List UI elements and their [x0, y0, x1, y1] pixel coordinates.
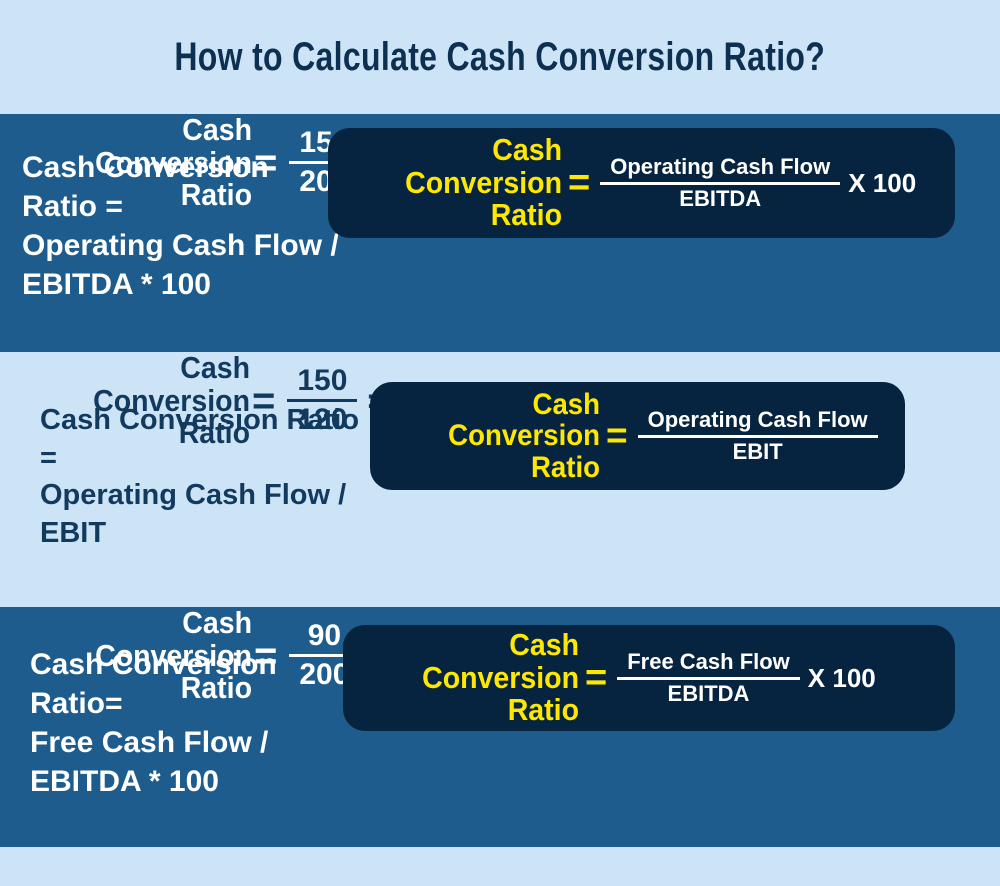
section-3-formula-equals: =	[585, 663, 607, 693]
section-2-formula-label: Cash Conversion Ratio	[405, 389, 600, 484]
section-2-band: Cash Conversion Ratio = Operating Cash F…	[0, 352, 1000, 607]
section-1-formula-fraction: Operating Cash Flow EBITDA	[600, 156, 840, 210]
section-2-formula-fraction: Operating Cash Flow EBIT	[638, 409, 878, 463]
section-3-formula-numerator: Free Cash Flow	[617, 651, 800, 673]
section-3-formula-plate: Cash Conversion Ratio = Free Cash Flow E…	[343, 625, 955, 731]
section-3-formula-fraction: Free Cash Flow EBITDA	[617, 651, 800, 705]
fraction-bar-icon	[638, 435, 878, 438]
section-1-formula-denominator: EBITDA	[669, 188, 771, 210]
section-3-formula-tail: X 100	[808, 663, 876, 694]
section-1-example-label: Cash Conversion Ratio	[20, 114, 252, 212]
footer-strip	[0, 847, 1000, 886]
section-1-band: Cash Conversion Ratio = Operating Cash F…	[0, 114, 1000, 352]
section-3-formula-denominator: EBITDA	[658, 683, 760, 705]
section-1-formula-numerator: Operating Cash Flow	[600, 156, 840, 178]
header-banner: How to Calculate Cash Conversion Ratio?	[0, 0, 1000, 114]
section-3-band: Cash Conversion Ratio= Free Cash Flow / …	[0, 607, 1000, 847]
section-3-formula-label: Cash Conversion Ratio	[377, 629, 579, 727]
section-2-formula-numerator: Operating Cash Flow	[638, 409, 878, 431]
fraction-bar-icon	[600, 182, 840, 185]
section-1-formula-tail: X 100	[848, 168, 916, 199]
section-3-example-label: Cash Conversion Ratio	[20, 607, 252, 705]
section-2-formula-plate: Cash Conversion Ratio = Operating Cash F…	[370, 382, 905, 490]
fraction-bar-icon	[617, 677, 800, 680]
section-2-example-label: Cash Conversion Ratio	[20, 352, 250, 450]
section-2-formula-denominator: EBIT	[723, 441, 793, 463]
page-title: How to Calculate Cash Conversion Ratio?	[175, 35, 826, 80]
section-1-formula-equals: =	[568, 168, 590, 198]
section-1-formula-plate: Cash Conversion Ratio = Operating Cash F…	[328, 128, 955, 238]
section-2-example-numerator: 150	[287, 366, 357, 397]
section-1-formula-label: Cash Conversion Ratio	[361, 134, 562, 232]
section-2-formula-equals: =	[606, 421, 628, 451]
